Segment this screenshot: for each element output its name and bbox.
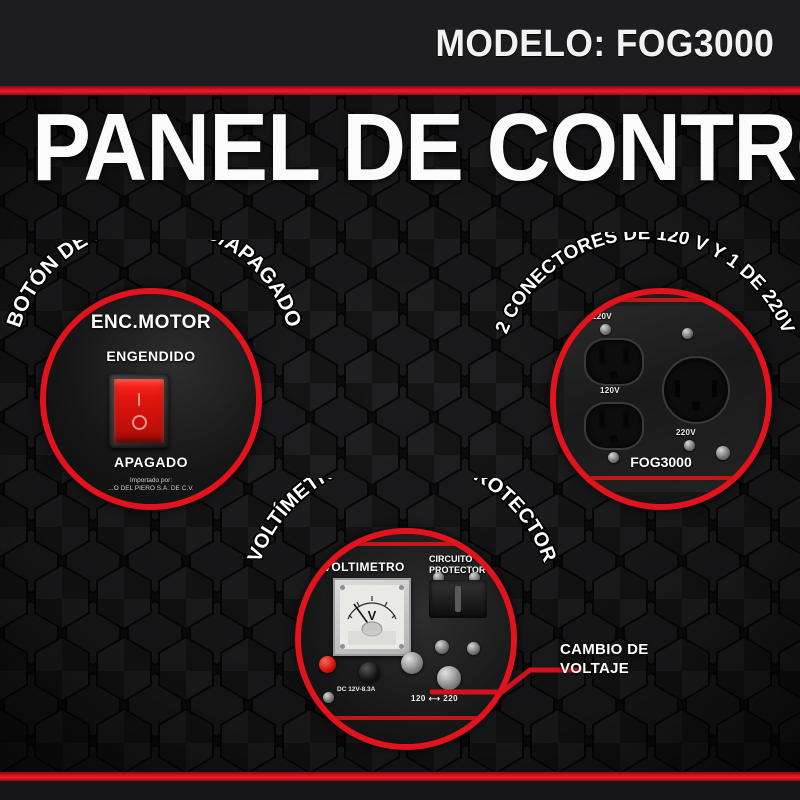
dc-terminal-negative[interactable] bbox=[359, 662, 380, 683]
model-label: MODELO: FOG3000 bbox=[435, 23, 800, 66]
screw-icon bbox=[323, 692, 334, 703]
rocker-switch-face[interactable] bbox=[114, 379, 164, 443]
outlet-120v-bottom[interactable] bbox=[584, 402, 644, 450]
callout-circle-power-switch[interactable]: ENC.MOTOR ENGENDIDO APAGADO Importado po… bbox=[40, 288, 262, 510]
bottom-red-divider bbox=[0, 772, 800, 781]
screw-icon bbox=[399, 644, 404, 649]
top-red-divider bbox=[0, 86, 800, 95]
ground-terminal[interactable] bbox=[401, 652, 423, 674]
analog-voltmeter: V bbox=[333, 578, 411, 656]
screw-icon bbox=[600, 324, 611, 335]
outlet-220v[interactable] bbox=[662, 356, 730, 424]
switch-off-mark-icon bbox=[132, 415, 147, 430]
screw-icon bbox=[340, 644, 345, 649]
socket-label-220v: 220V bbox=[676, 428, 696, 437]
ground-slot-icon bbox=[610, 371, 618, 379]
screw-icon bbox=[684, 440, 695, 451]
panel-red-accent-top bbox=[577, 298, 738, 302]
callout-circle-outlets[interactable]: 120V 120V 220V FOG3000 bbox=[550, 288, 772, 510]
engendido-label: ENGENDIDO bbox=[46, 348, 256, 364]
product-infographic: MODELO: FOG3000 PANEL DE CONTROL BOTÓN D… bbox=[0, 0, 800, 800]
panel-red-accent-bottom bbox=[311, 716, 501, 720]
rocker-switch[interactable] bbox=[109, 374, 169, 448]
page-title: PANEL DE CONTROL bbox=[32, 100, 768, 196]
ground-slot-icon bbox=[692, 402, 700, 411]
screw-icon bbox=[340, 585, 345, 590]
footer-bar bbox=[0, 781, 800, 800]
neutral-slot-icon bbox=[712, 380, 717, 397]
importer-line-2: ...O DEL PIERO S.A. DE C.V. bbox=[46, 485, 256, 493]
importer-fineprint: Importado por: ...O DEL PIERO S.A. DE C.… bbox=[46, 477, 256, 493]
outlet-model-mark: FOG3000 bbox=[556, 454, 766, 470]
live-slot-icon bbox=[675, 380, 680, 397]
circuit-breaker[interactable] bbox=[429, 580, 487, 618]
breaker-label-line-1: CIRCUITO bbox=[429, 554, 485, 565]
annotation-cambio-de-voltaje: CAMBIO DE VOLTAJE bbox=[560, 640, 649, 678]
dc-terminal-positive[interactable] bbox=[319, 656, 336, 673]
panel-red-accent-top bbox=[311, 542, 501, 546]
importer-line-1: Importado por: bbox=[46, 477, 256, 485]
annotation-line-2: VOLTAJE bbox=[560, 659, 649, 678]
voltmeter-label: VOLTIMETRO bbox=[323, 560, 405, 574]
dc-rating-label: DC 12V-8.3A bbox=[337, 686, 375, 693]
ground-slot-icon bbox=[610, 435, 618, 443]
outlet-120v-top[interactable] bbox=[584, 338, 644, 386]
panel-red-accent-bottom bbox=[574, 476, 744, 480]
socket-label-120v-top: 120V bbox=[592, 312, 612, 321]
annotation-line-1: CAMBIO DE bbox=[560, 640, 649, 659]
socket-label-120v-bottom: 120V bbox=[600, 386, 620, 395]
enc-motor-label: ENC.MOTOR bbox=[46, 312, 256, 334]
screw-icon bbox=[399, 585, 404, 590]
screw-icon bbox=[682, 328, 693, 339]
apagado-label: APAGADO bbox=[46, 454, 256, 470]
header-bar: MODELO: FOG3000 bbox=[0, 0, 800, 88]
switch-on-mark-icon bbox=[138, 393, 140, 406]
voltmeter-unit: V bbox=[335, 608, 409, 623]
